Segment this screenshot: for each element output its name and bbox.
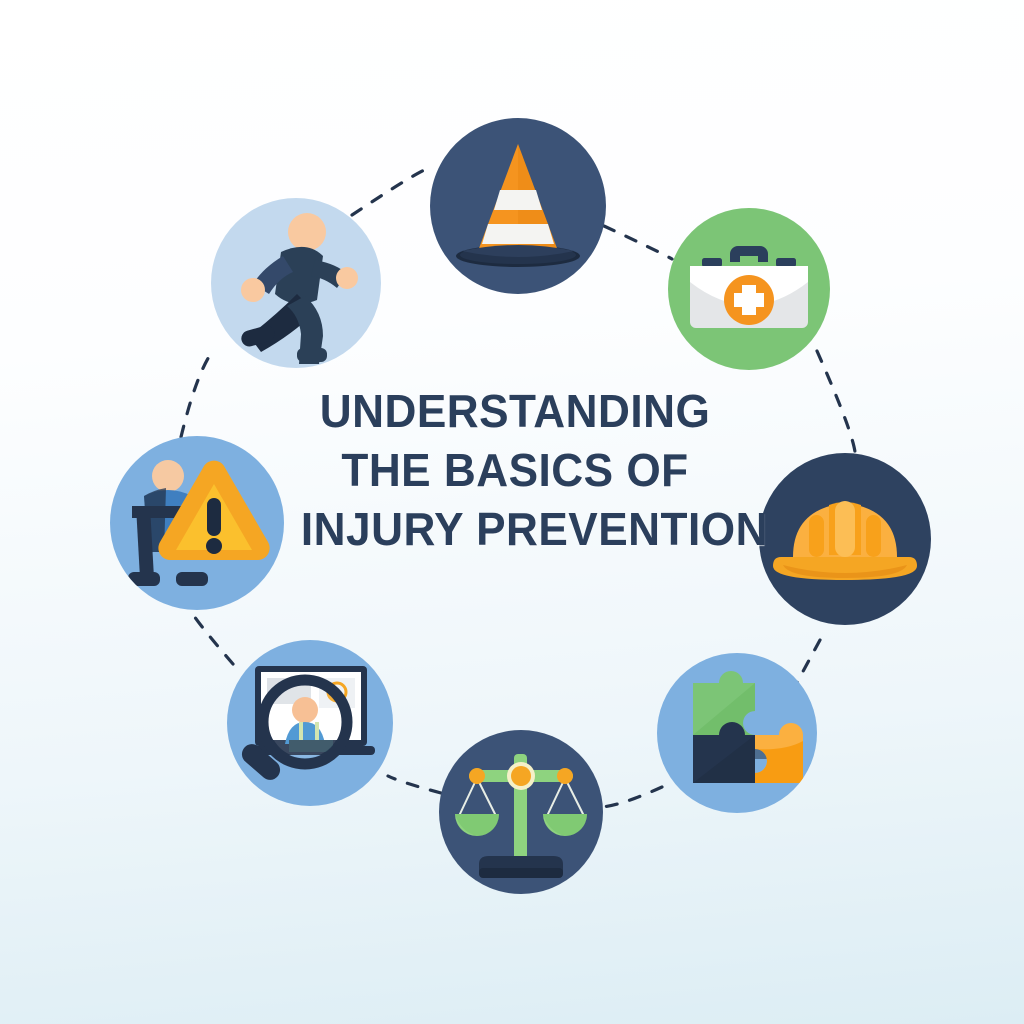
puzzle-pieces-icon bbox=[657, 653, 817, 813]
hard-hat-icon bbox=[759, 453, 931, 625]
connector-topleft-top bbox=[352, 168, 432, 215]
title-line-2: THE BASICS OF bbox=[301, 441, 729, 500]
infographic-canvas: UNDERSTANDING THE BASICS OF INJURY PREVE… bbox=[0, 0, 1024, 1024]
node-hard-hat[interactable] bbox=[759, 453, 931, 625]
connector-top-topright bbox=[604, 226, 672, 259]
title-line-1: UNDERSTANDING bbox=[301, 382, 729, 441]
warning-triangle-worker-icon bbox=[110, 436, 284, 610]
magnifier-laptop-icon bbox=[227, 640, 393, 806]
first-aid-kit-icon bbox=[668, 208, 830, 370]
page-title: UNDERSTANDING THE BASICS OF INJURY PREVE… bbox=[301, 382, 729, 559]
node-first-aid-kit[interactable] bbox=[668, 208, 830, 370]
title-line-3: INJURY PREVENTION bbox=[301, 500, 729, 559]
balance-scales-icon bbox=[439, 730, 603, 894]
node-laptop-inspection[interactable] bbox=[227, 640, 393, 806]
node-balance-scales[interactable] bbox=[439, 730, 603, 894]
connector-bottomright-bottom bbox=[601, 787, 662, 807]
node-puzzle-pieces[interactable] bbox=[657, 653, 817, 813]
node-running-person[interactable] bbox=[211, 198, 381, 368]
node-traffic-cone[interactable] bbox=[430, 118, 606, 294]
connector-bottom-bottomleft bbox=[388, 776, 441, 793]
traffic-cone-icon bbox=[430, 118, 606, 294]
connector-left-topleft bbox=[181, 352, 212, 437]
connector-bottomleft-left bbox=[189, 608, 233, 664]
node-ergonomic-hazard[interactable] bbox=[110, 436, 284, 610]
running-person-icon bbox=[211, 198, 381, 368]
connector-topright-right bbox=[817, 351, 855, 452]
